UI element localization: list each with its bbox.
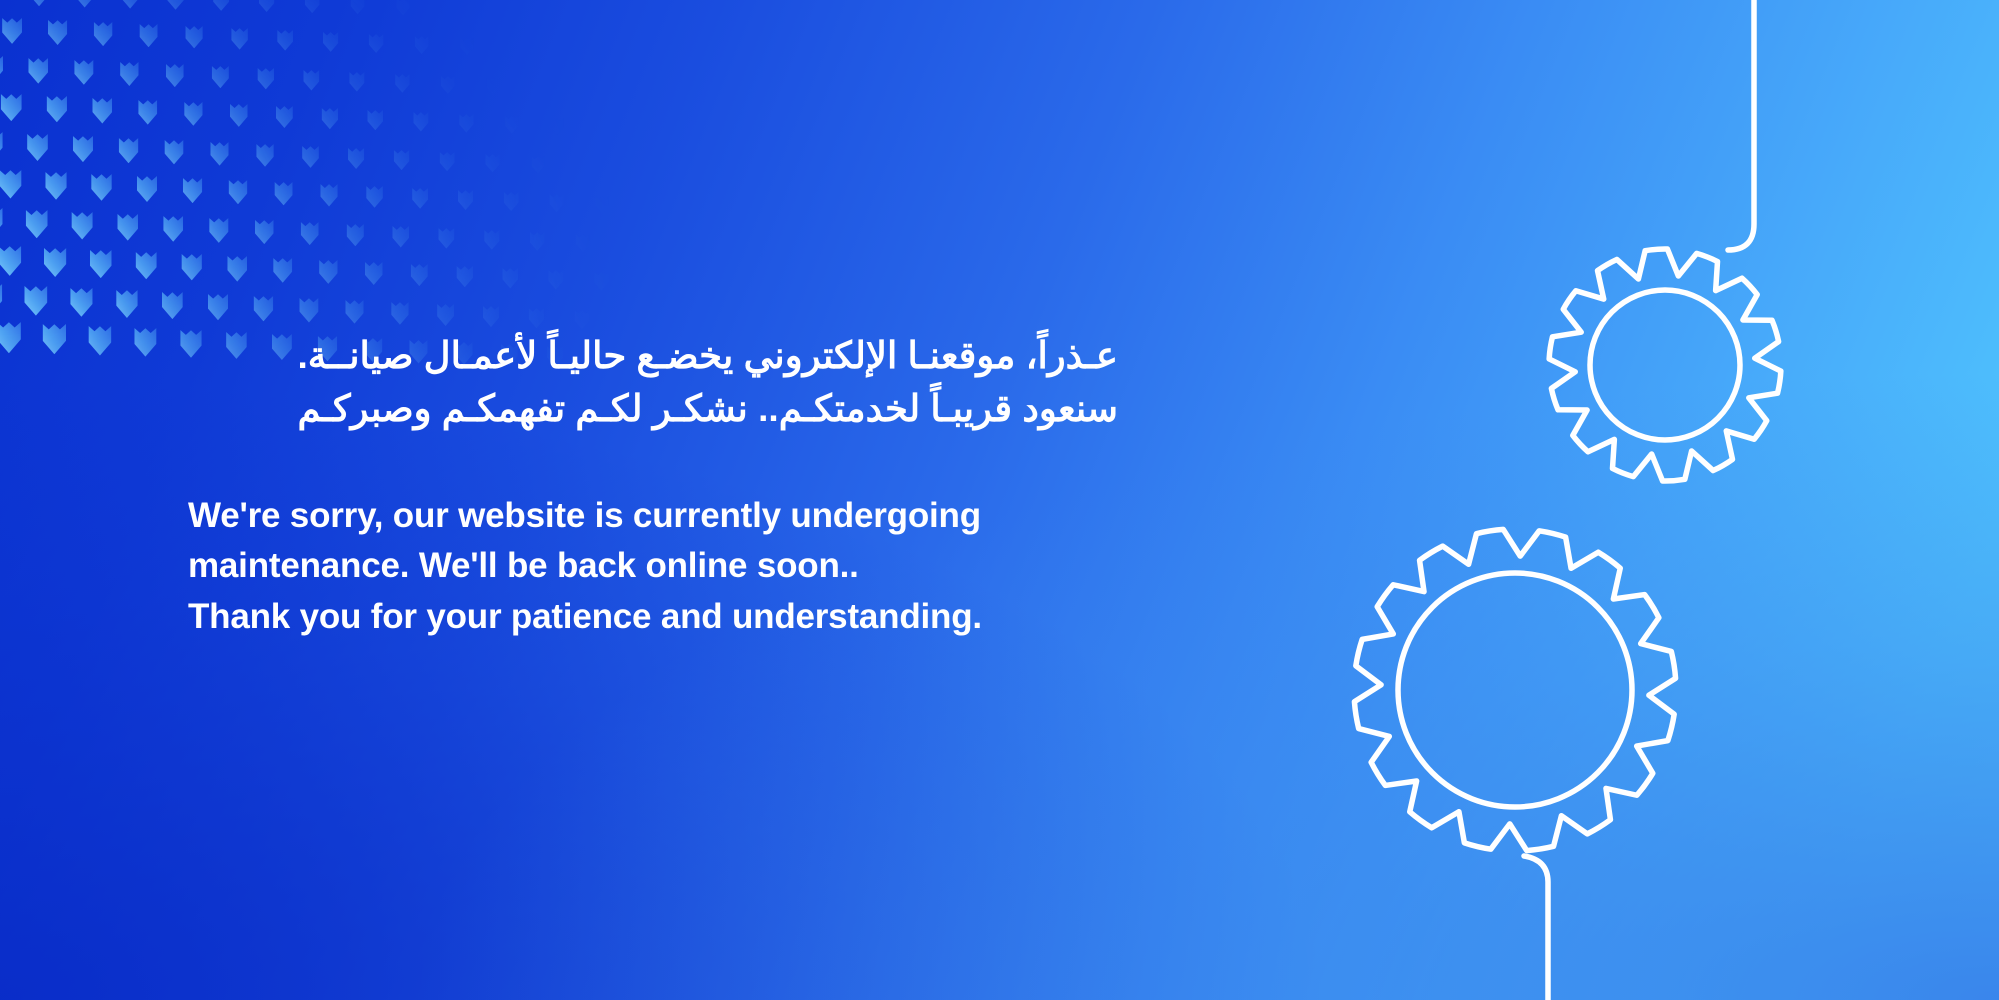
maintenance-page: عـذراً، موقعنـا الإلكتروني يخضـع حاليـاً… — [0, 0, 1999, 1000]
small-gear-teeth — [1549, 249, 1781, 481]
large-gear-teeth — [1354, 529, 1675, 850]
english-line-1: We're sorry, our website is currently un… — [188, 491, 1198, 541]
large-gear-hub — [1398, 573, 1632, 807]
small-gear-hub — [1590, 290, 1740, 440]
arabic-line-1: عـذراً، موقعنـا الإلكتروني يخضـع حاليـاً… — [188, 330, 1118, 383]
top-connector-line — [1728, 0, 1754, 250]
chevron-pattern-decoration — [0, 0, 610, 370]
arabic-message: عـذراً، موقعنـا الإلكتروني يخضـع حاليـاً… — [188, 330, 1118, 435]
english-message: We're sorry, our website is currently un… — [188, 491, 1198, 642]
bottom-connector-line — [1524, 856, 1548, 1000]
arabic-line-2: سنعود قريبـاً لخدمتكـم.. نشكـر لكـم تفهم… — [188, 383, 1118, 436]
english-line-3: Thank you for your patience and understa… — [188, 592, 1198, 642]
english-line-2: maintenance. We'll be back online soon.. — [188, 541, 1198, 591]
maintenance-message: عـذراً، موقعنـا الإلكتروني يخضـع حاليـاً… — [188, 330, 1198, 642]
